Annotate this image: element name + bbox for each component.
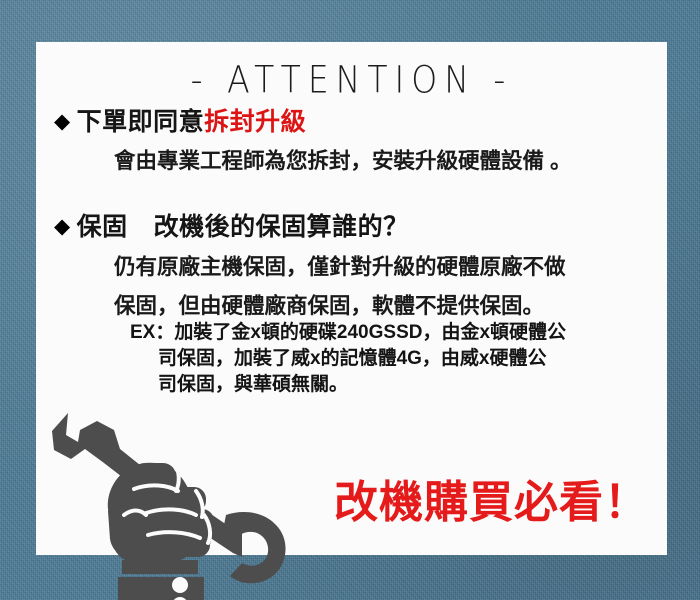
example-block: EX：加裝了金x頓的硬碟240GSSD，由金x頓硬體公 司保固，加裝了威x的記憶… [36,320,667,399]
section-body-line: 會由專業工程師為您拆封，安裝升級硬體設備 。 [36,147,667,176]
section-heading-black: 保固 [77,207,128,243]
callout-headline: 改機購買必看！ [334,466,649,530]
section-warranty: ◆ 保固 改機後的保固算誰的？ 仍有原廠主機保固，僅針對升級的硬體原廠不做 保固… [36,207,667,321]
section-heading: ◆ 保固 改機後的保固算誰的？ [36,207,667,243]
poster-canvas: - ATTENTION - ◆ 下單即同意 拆封升級 會由專業工程師為您拆封，安… [0,0,700,600]
example-line: 司保固，與華碩無關。 [36,372,667,398]
diamond-bullet-icon: ◆ [54,216,71,237]
section-heading-question: 改機後的保固算誰的？ [154,207,409,243]
diamond-bullet-icon: ◆ [54,111,71,132]
section-body-line: 仍有原廠主機保固，僅針對升級的硬體原廠不做 [36,253,667,282]
example-line: 司保固，加裝了威x的記憶體4G，由威x硬體公 [36,346,667,372]
section-body-line: 保固，但由硬體廠商保固，軟體不提供保固。 [36,292,667,321]
hand-holding-wrench-icon [28,405,318,600]
section-heading-black: 下單即同意 [77,102,205,138]
cuff-button [172,577,188,593]
section-heading: ◆ 下單即同意 拆封升級 [36,102,667,138]
section-heading-red: 拆封升級 [204,102,306,138]
section-unboxing-upgrade: ◆ 下單即同意 拆封升級 會由專業工程師為您拆封，安裝升級硬體設備 。 [36,102,667,176]
example-line: EX：加裝了金x頓的硬碟240GSSD，由金x頓硬體公 [36,320,667,346]
page-title: - ATTENTION - [36,58,667,102]
